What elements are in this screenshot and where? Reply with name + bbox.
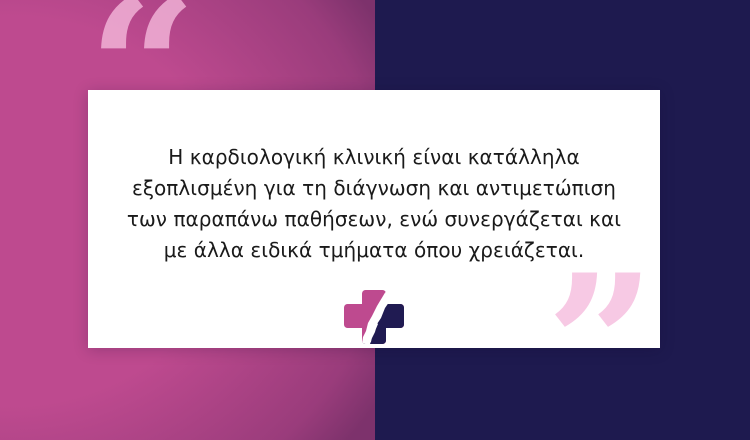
medical-cross-logo xyxy=(344,290,404,344)
cross-body xyxy=(344,290,404,344)
slide-canvas: “ Η καρδιολογική κλινική είναι κατάλληλα… xyxy=(0,0,750,440)
closing-quote-icon: ” xyxy=(546,250,653,440)
